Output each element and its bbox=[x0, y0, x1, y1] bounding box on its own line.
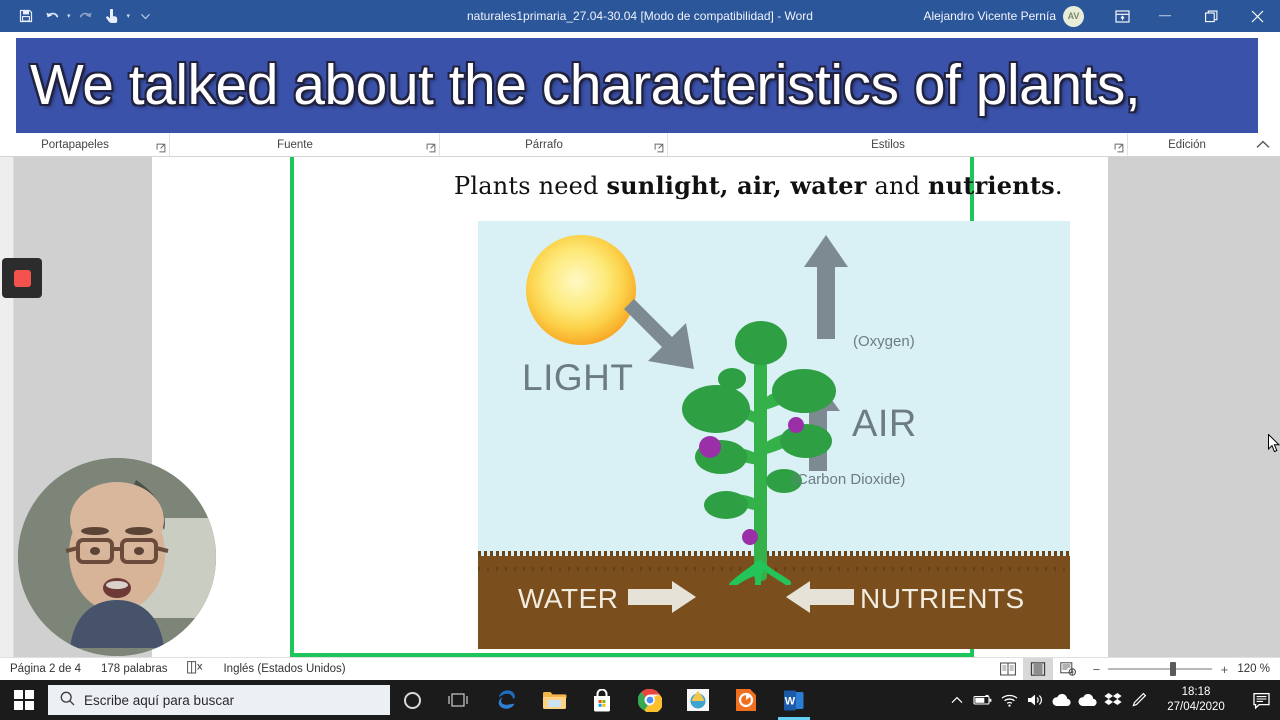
dropbox-icon[interactable] bbox=[1100, 680, 1126, 720]
stop-square-icon bbox=[14, 270, 31, 287]
onedrive-personal-icon[interactable] bbox=[1048, 680, 1074, 720]
web-layout-view-button[interactable] bbox=[1053, 658, 1083, 680]
plant-needs-diagram-image[interactable]: LIGHT AIR (Oxygen) (Carbon Dioxide) WATE… bbox=[478, 221, 1070, 649]
account-name[interactable]: Alejandro Vicente Pernía bbox=[923, 9, 1056, 23]
heading-bold-sunlight-air-water: sunlight, air, water bbox=[606, 171, 866, 200]
read-mode-view-button[interactable] bbox=[993, 658, 1023, 680]
caption-text: We talked about the characteristics of p… bbox=[16, 57, 1140, 114]
zoom-in-button[interactable]: + bbox=[1219, 662, 1229, 677]
touch-mode-icon[interactable] bbox=[100, 5, 124, 27]
caption-overlay: We talked about the characteristics of p… bbox=[16, 38, 1258, 133]
system-tray: 18:18 27/04/2020 bbox=[944, 680, 1280, 720]
label-oxygen: (Oxygen) bbox=[853, 333, 915, 350]
label-water: WATER bbox=[518, 583, 619, 615]
label-light: LIGHT bbox=[522, 357, 633, 399]
taskbar-apps: W bbox=[434, 680, 818, 720]
action-center-icon[interactable] bbox=[1244, 680, 1280, 720]
status-bar-right: − + 120 % bbox=[993, 658, 1280, 680]
search-icon bbox=[60, 691, 75, 709]
svg-text:W: W bbox=[785, 695, 796, 707]
water-arrow-icon bbox=[626, 579, 698, 615]
print-layout-view-button[interactable] bbox=[1023, 658, 1053, 680]
task-view-button[interactable] bbox=[434, 680, 482, 720]
dialog-launcher-icon[interactable] bbox=[648, 137, 664, 153]
undo-dropdown-caret-icon[interactable]: ▾ bbox=[66, 12, 72, 20]
label-carbon-dioxide: (Carbon Dioxide) bbox=[792, 471, 905, 488]
mouse-cursor bbox=[1268, 434, 1280, 458]
heading-prefix: Plants need bbox=[454, 172, 606, 200]
zoom-slider[interactable]: − + bbox=[1083, 662, 1237, 677]
taskbar: Escribe aquí para buscar bbox=[0, 680, 1280, 720]
zoom-level-label[interactable]: 120 % bbox=[1237, 663, 1280, 675]
clock-date: 27/04/2020 bbox=[1167, 700, 1225, 715]
onedrive-business-icon[interactable] bbox=[1074, 680, 1100, 720]
clock[interactable]: 18:18 27/04/2020 bbox=[1152, 685, 1244, 714]
cortana-button[interactable] bbox=[390, 680, 434, 720]
taskbar-app-chrome[interactable] bbox=[626, 680, 674, 720]
close-button[interactable] bbox=[1234, 0, 1280, 32]
show-hidden-icons-chevron[interactable] bbox=[944, 680, 970, 720]
ribbon-group-label: Párrafo bbox=[440, 139, 648, 151]
ribbon-display-options-icon[interactable] bbox=[1102, 0, 1142, 32]
plant-illustration-icon bbox=[666, 305, 866, 585]
taskbar-app-word[interactable]: W bbox=[770, 680, 818, 720]
proofing-errors-icon[interactable] bbox=[177, 661, 213, 677]
avatar[interactable]: AV bbox=[1063, 6, 1084, 27]
ribbon-group-label: Fuente bbox=[170, 139, 420, 151]
ribbon-group-label: Edición bbox=[1128, 139, 1246, 151]
restore-button[interactable] bbox=[1188, 0, 1234, 32]
status-bar: Página 2 de 4 178 palabras Inglés (Estad… bbox=[0, 657, 1280, 680]
webcam-person-icon bbox=[18, 458, 216, 656]
document-heading: Plants need sunlight, air, water and nut… bbox=[454, 171, 1114, 200]
ribbon-group-labels: Portapapeles Fuente Párrafo Estilos Edic… bbox=[0, 133, 1280, 157]
search-placeholder: Escribe aquí para buscar bbox=[84, 693, 234, 708]
customize-qat-icon[interactable] bbox=[133, 5, 157, 27]
webcam-bubble[interactable] bbox=[18, 458, 216, 656]
selected-content-block[interactable]: Plants need sunlight, air, water and nut… bbox=[290, 157, 974, 657]
ribbon-group-parrafo[interactable]: Párrafo bbox=[440, 133, 668, 156]
minimize-button[interactable] bbox=[1142, 0, 1188, 32]
ribbon-group-edicion[interactable]: Edición bbox=[1128, 133, 1246, 156]
redo-icon[interactable] bbox=[74, 5, 98, 27]
pen-icon[interactable] bbox=[1126, 680, 1152, 720]
label-nutrients: NUTRIENTS bbox=[860, 583, 1025, 615]
save-icon[interactable] bbox=[14, 5, 38, 27]
nutrients-arrow-icon bbox=[784, 579, 856, 615]
ribbon-group-fuente[interactable]: Fuente bbox=[170, 133, 440, 156]
taskbar-app-orange[interactable] bbox=[722, 680, 770, 720]
windows-logo-icon bbox=[14, 690, 34, 710]
quick-access-toolbar: ▾ ▾ bbox=[0, 5, 157, 27]
title-bar: ▾ ▾ naturales1primaria_27.04-30.04 [Modo… bbox=[0, 0, 1280, 32]
cortana-ring-icon bbox=[404, 692, 421, 709]
dialog-launcher-icon[interactable] bbox=[420, 137, 436, 153]
dialog-launcher-icon[interactable] bbox=[150, 137, 166, 153]
heading-mid: and bbox=[867, 172, 928, 200]
search-input[interactable]: Escribe aquí para buscar bbox=[48, 685, 390, 715]
ribbon-group-label: Estilos bbox=[668, 139, 1108, 151]
language-status[interactable]: Inglés (Estados Unidos) bbox=[213, 663, 355, 675]
clock-time: 18:18 bbox=[1182, 685, 1211, 700]
zoom-thumb[interactable] bbox=[1170, 662, 1176, 676]
zoom-track[interactable] bbox=[1108, 668, 1212, 670]
label-air: AIR bbox=[852, 403, 917, 446]
zoom-out-button[interactable]: − bbox=[1091, 662, 1101, 677]
undo-icon[interactable] bbox=[40, 5, 64, 27]
volume-icon[interactable] bbox=[1022, 680, 1048, 720]
dialog-launcher-icon[interactable] bbox=[1108, 137, 1124, 153]
title-bar-right: Alejandro Vicente Pernía AV bbox=[923, 0, 1280, 32]
taskbar-app-file-explorer[interactable] bbox=[530, 680, 578, 720]
taskbar-app-paint[interactable] bbox=[674, 680, 722, 720]
wifi-icon[interactable] bbox=[996, 680, 1022, 720]
battery-icon[interactable] bbox=[970, 680, 996, 720]
ribbon-group-portapapeles[interactable]: Portapapeles bbox=[0, 133, 170, 156]
document-page[interactable]: Plants need sunlight, air, water and nut… bbox=[152, 157, 1108, 657]
stop-recording-button[interactable] bbox=[2, 258, 42, 298]
taskbar-app-microsoft-store[interactable] bbox=[578, 680, 626, 720]
taskbar-app-edge[interactable] bbox=[482, 680, 530, 720]
chevron-up-icon[interactable] bbox=[1246, 133, 1280, 156]
screen: ▾ ▾ naturales1primaria_27.04-30.04 [Modo… bbox=[0, 0, 1280, 720]
vertical-ruler bbox=[0, 157, 14, 657]
ribbon-group-label: Portapapeles bbox=[0, 139, 150, 151]
start-button[interactable] bbox=[0, 680, 48, 720]
heading-bold-nutrients: nutrients bbox=[928, 171, 1055, 200]
ribbon-group-estilos[interactable]: Estilos bbox=[668, 133, 1128, 156]
word-count-status[interactable]: 178 palabras bbox=[91, 663, 178, 675]
touch-mode-dropdown-caret-icon[interactable]: ▾ bbox=[126, 12, 132, 20]
page-number-status[interactable]: Página 2 de 4 bbox=[0, 663, 91, 675]
heading-suffix: . bbox=[1055, 172, 1063, 200]
